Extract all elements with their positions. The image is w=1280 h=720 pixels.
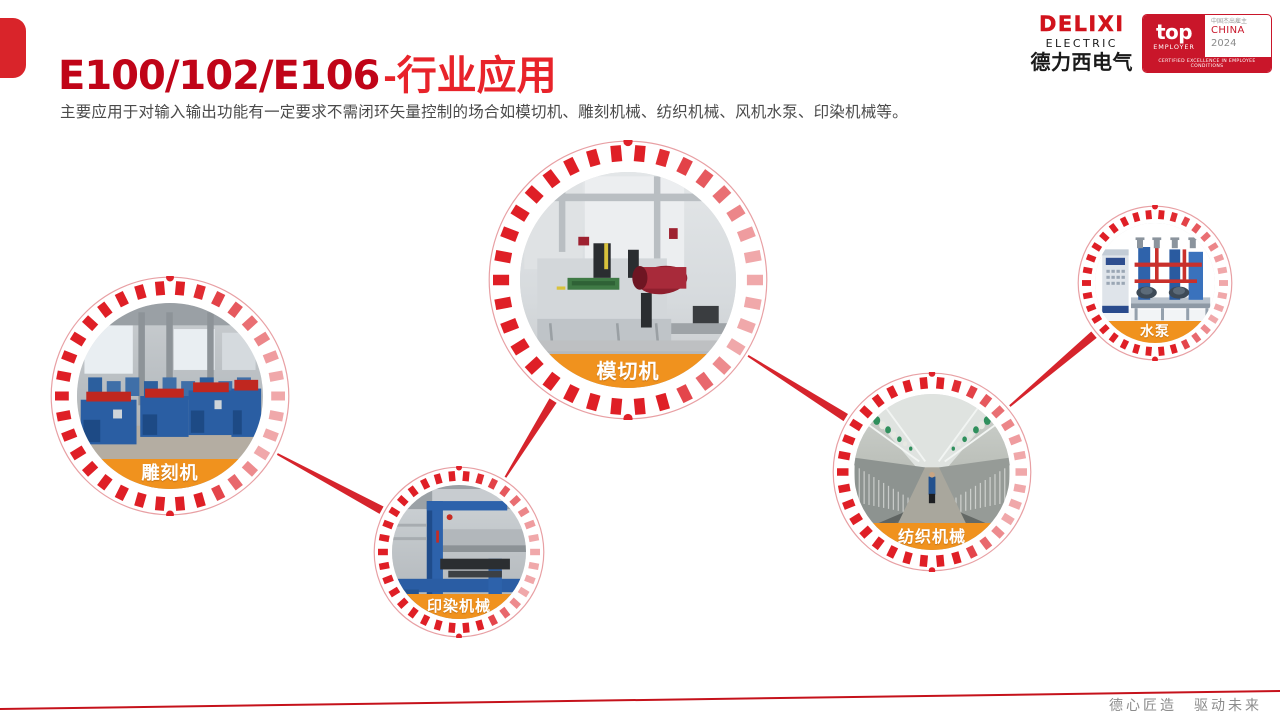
application-node-waterpump[interactable]: 水泵 <box>1077 205 1233 361</box>
title-accent-marker <box>0 18 26 78</box>
ring-dot <box>623 414 632 420</box>
application-node-diecutting[interactable]: 模切机 <box>488 140 768 420</box>
footer-divider <box>0 675 1280 720</box>
node-photo-diecutting: 模切机 <box>520 172 736 388</box>
ring-dot <box>1152 205 1158 210</box>
page-subtitle: 主要应用于对输入输出功能有一定要求不需闭环矢量控制的场合如模切机、雕刻机械、纺织… <box>60 100 908 122</box>
node-photo-engraving: 雕刻机 <box>77 303 263 489</box>
ring-dot <box>166 511 174 516</box>
ring-dot <box>456 466 462 471</box>
node-label-printing-dyeing: 印染机械 <box>392 594 526 619</box>
node-photo-waterpump: 水泵 <box>1095 223 1215 343</box>
node-label-waterpump: 水泵 <box>1095 321 1215 343</box>
application-node-textile[interactable]: 纺织机械 <box>832 372 1032 572</box>
page-title: E100/102/E106-行业应用 <box>58 45 557 107</box>
page-title-chinese: 行业应用 <box>397 53 557 99</box>
badge-top-word: top <box>1156 22 1192 42</box>
ring-dot <box>929 567 936 572</box>
node-label-textile: 纺织机械 <box>854 523 1010 550</box>
badge-chinese-line: 中国杰出雇主 <box>1211 18 1271 25</box>
connector-engraving-to-printing-dyeing <box>277 453 384 514</box>
delixi-wordmark: DELIXI <box>1031 14 1134 35</box>
badge-certification-strip: CERTIFIED EXCELLENCE IN EMPLOYEE CONDITI… <box>1143 57 1271 72</box>
ring-dot <box>456 634 462 639</box>
top-employer-badge: top EMPLOYER 中国杰出雇主 CHINA 2024 CERTIFIED… <box>1142 14 1272 73</box>
badge-white-panel: 中国杰出雇主 CHINA 2024 <box>1205 15 1271 57</box>
delixi-subtitle: ELECTRIC <box>1031 38 1134 49</box>
application-node-printing-dyeing[interactable]: 印染机械 <box>373 466 545 638</box>
page-title-code: E100/102/E106 <box>58 53 379 99</box>
ring-dot <box>929 372 936 377</box>
badge-year: 2024 <box>1211 38 1271 50</box>
page-title-separator: - <box>379 54 396 98</box>
brand-logos: DELIXI ELECTRIC 德力西电气 top EMPLOYER 中国杰出雇… <box>1031 14 1273 73</box>
badge-employer-word: EMPLOYER <box>1153 44 1195 51</box>
slide-root: E100/102/E106-行业应用 主要应用于对输入输出功能有一定要求不需闭环… <box>0 0 1280 720</box>
delixi-logo: DELIXI ELECTRIC 德力西电气 <box>1031 14 1134 72</box>
node-label-engraving: 雕刻机 <box>77 459 263 489</box>
footer-slogan: 德心匠造 驱动未来 <box>1109 695 1262 715</box>
ring-dot <box>166 276 174 281</box>
delixi-chinese-name: 德力西电气 <box>1031 52 1134 72</box>
ring-dot <box>623 140 632 146</box>
node-label-diecutting: 模切机 <box>520 354 736 388</box>
ring-dot <box>1152 357 1158 362</box>
node-photo-printing-dyeing: 印染机械 <box>392 485 526 619</box>
application-node-engraving[interactable]: 雕刻机 <box>50 276 290 516</box>
node-photo-textile: 纺织机械 <box>854 394 1010 550</box>
badge-red-panel: top EMPLOYER <box>1143 15 1205 57</box>
badge-country: CHINA <box>1211 25 1271 37</box>
badge-upper: top EMPLOYER 中国杰出雇主 CHINA 2024 <box>1143 15 1271 57</box>
